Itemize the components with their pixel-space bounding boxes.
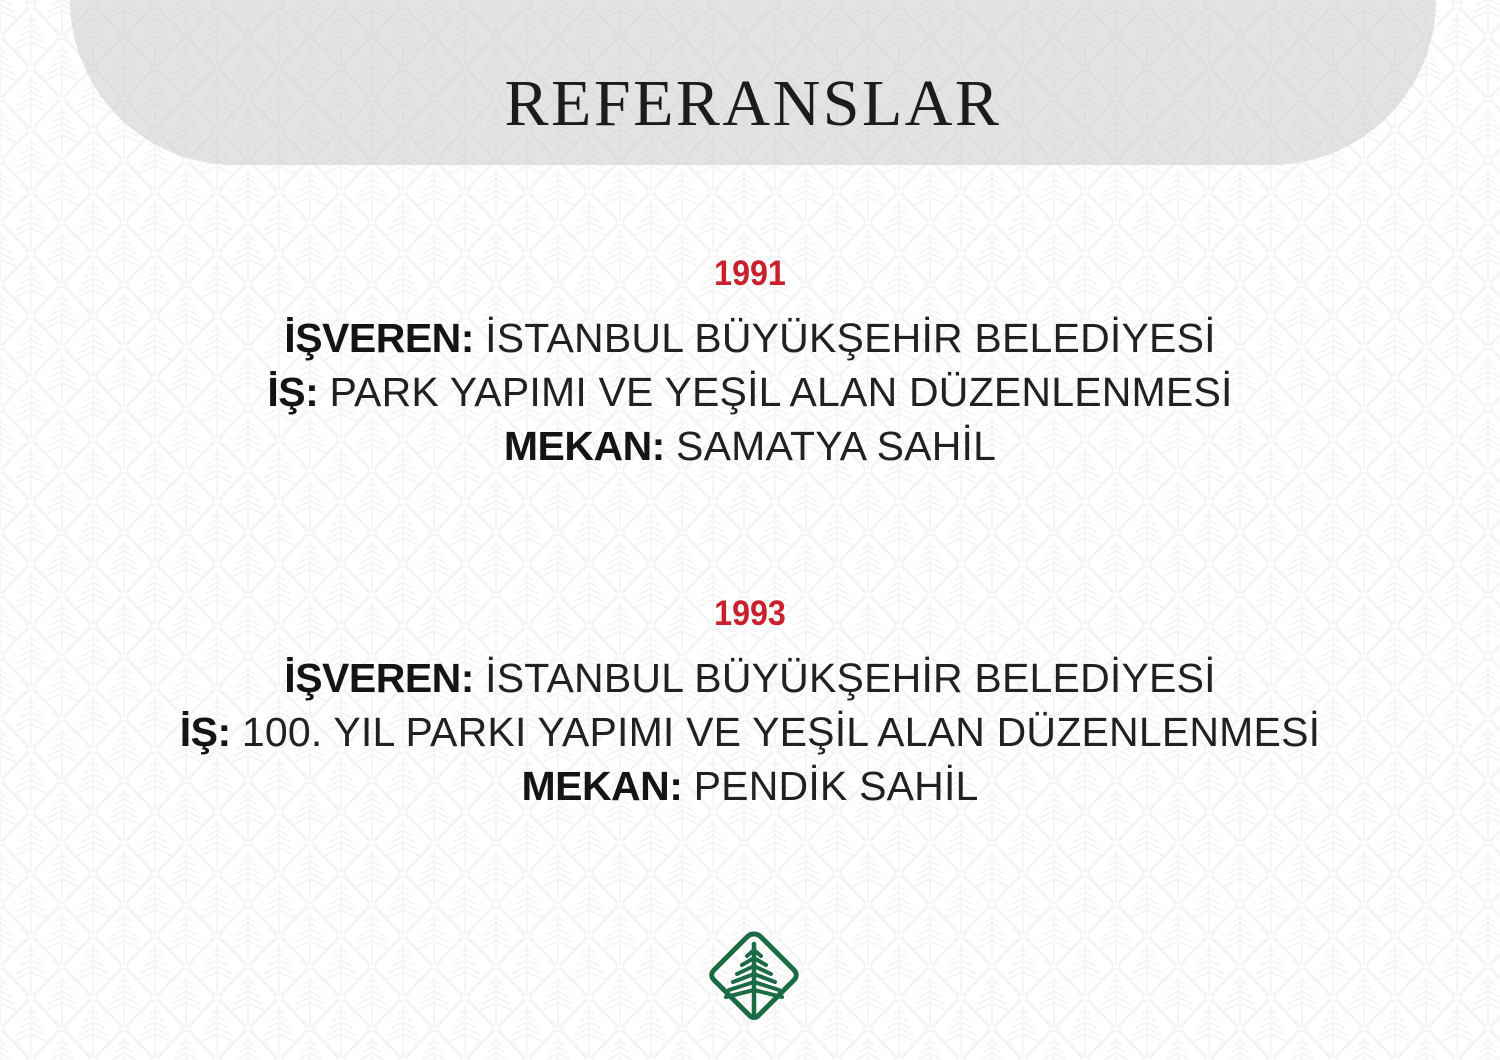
detail-value: 100. YIL PARKI YAPIMI VE YEŞİL ALAN DÜZE… bbox=[242, 709, 1320, 755]
reference-detail-row: İŞVEREN: İSTANBUL BÜYÜKŞEHİR BELEDİYESİ bbox=[0, 651, 1500, 705]
reference-entry: 1991 İŞVEREN: İSTANBUL BÜYÜKŞEHİR BELEDİ… bbox=[0, 256, 1500, 473]
detail-value: SAMATYA SAHİL bbox=[676, 423, 996, 469]
conifer-tree-leaf-logo bbox=[706, 930, 802, 1020]
detail-value: İSTANBUL BÜYÜKŞEHİR BELEDİYESİ bbox=[485, 655, 1216, 701]
detail-label: İŞVEREN: bbox=[284, 655, 474, 701]
detail-label: MEKAN: bbox=[521, 763, 682, 809]
references-list: 1991 İŞVEREN: İSTANBUL BÜYÜKŞEHİR BELEDİ… bbox=[0, 0, 1500, 1060]
detail-value: PARK YAPIMI VE YEŞİL ALAN DÜZENLENMESİ bbox=[330, 369, 1233, 415]
reference-year: 1991 bbox=[60, 256, 1440, 293]
reference-year: 1993 bbox=[60, 596, 1440, 633]
reference-detail-row: İŞ: 100. YIL PARKI YAPIMI VE YEŞİL ALAN … bbox=[0, 705, 1500, 759]
detail-value: İSTANBUL BÜYÜKŞEHİR BELEDİYESİ bbox=[485, 315, 1216, 361]
reference-slide: REFERANSLAR 1991 İŞVEREN: İSTANBUL BÜYÜK… bbox=[0, 0, 1500, 1060]
reference-detail-row: MEKAN: PENDİK SAHİL bbox=[0, 759, 1500, 813]
detail-label: MEKAN: bbox=[504, 423, 665, 469]
reference-detail-row: İŞ: PARK YAPIMI VE YEŞİL ALAN DÜZENLENME… bbox=[0, 365, 1500, 419]
detail-value: PENDİK SAHİL bbox=[694, 763, 979, 809]
detail-label: İŞVEREN: bbox=[284, 315, 474, 361]
reference-detail-row: MEKAN: SAMATYA SAHİL bbox=[0, 419, 1500, 473]
detail-label: İŞ: bbox=[267, 369, 318, 415]
reference-entry: 1993 İŞVEREN: İSTANBUL BÜYÜKŞEHİR BELEDİ… bbox=[0, 596, 1500, 813]
detail-label: İŞ: bbox=[180, 709, 231, 755]
reference-detail-row: İŞVEREN: İSTANBUL BÜYÜKŞEHİR BELEDİYESİ bbox=[0, 311, 1500, 365]
